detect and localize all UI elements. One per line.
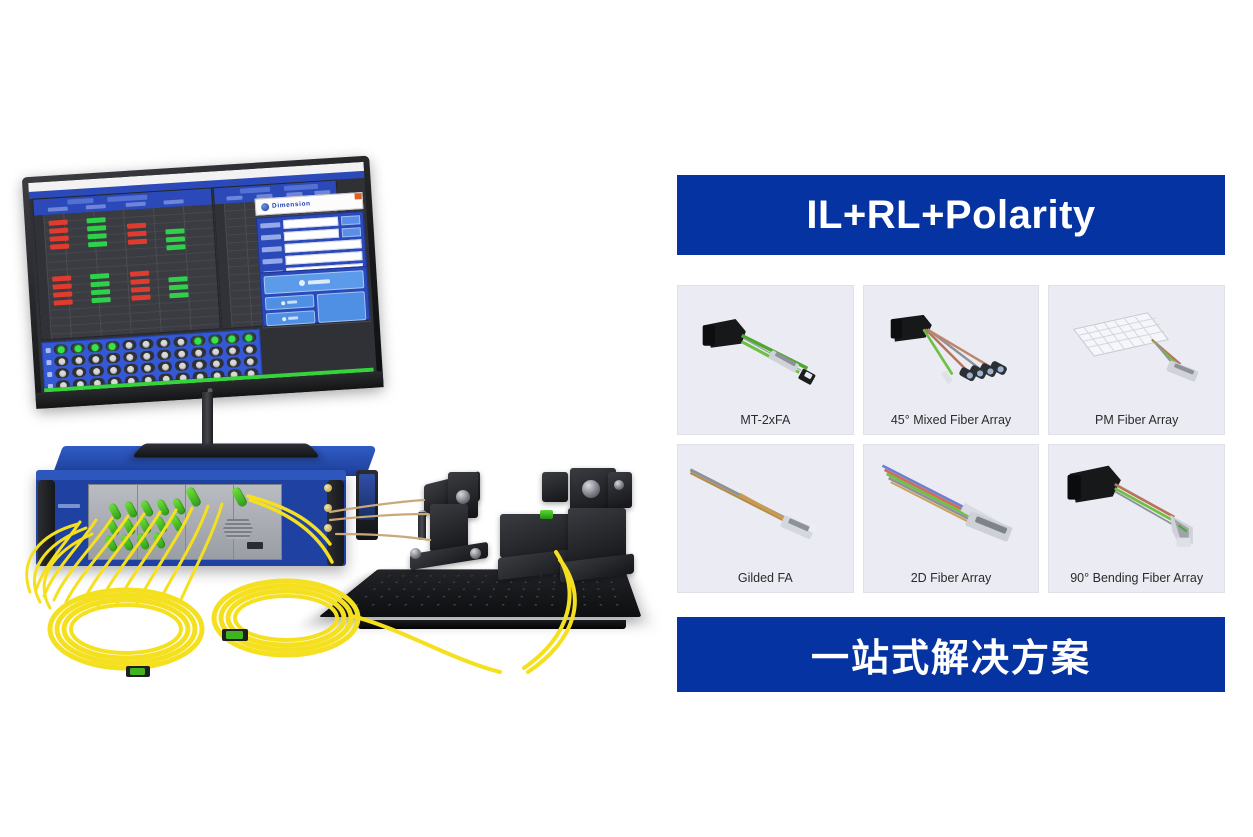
led-indicator-off	[161, 363, 168, 370]
led-cell[interactable]	[140, 350, 155, 361]
measurement-grid-left[interactable]	[32, 187, 221, 340]
led-indicator-on	[108, 342, 115, 349]
grid-rows	[34, 205, 219, 340]
led-cell[interactable]	[191, 347, 206, 358]
led-cell[interactable]	[242, 332, 257, 343]
led-indicator-off	[75, 356, 82, 363]
led-cell[interactable]	[55, 368, 70, 379]
product-label: Gilded FA	[738, 571, 793, 592]
field-label	[262, 246, 282, 252]
led-cell[interactable]	[158, 361, 173, 372]
led-indicator-off	[177, 338, 184, 345]
product-cell[interactable]: 2D Fiber Array	[863, 444, 1040, 594]
led-indicator-off	[110, 366, 117, 373]
led-indicator-off	[212, 348, 219, 355]
led-cell[interactable]	[209, 358, 224, 369]
led-indicator-on	[228, 335, 235, 342]
led-indicator-off	[213, 360, 220, 367]
sma-lead	[324, 504, 332, 512]
led-indicator-off	[143, 352, 150, 359]
optical-alignment-bench	[352, 452, 652, 642]
led-cell[interactable]	[243, 344, 258, 355]
led-cell[interactable]	[123, 363, 138, 374]
led-cell[interactable]	[208, 334, 223, 345]
led-cell[interactable]	[53, 344, 68, 355]
brand-name: Dimension	[272, 200, 311, 209]
pm-array-icon	[1049, 286, 1224, 408]
led-indicator-off	[93, 367, 100, 374]
led-cell[interactable]	[70, 343, 85, 354]
led-indicator-on	[91, 343, 98, 350]
monitor-stand-neck	[202, 392, 213, 444]
led-cell[interactable]	[122, 340, 137, 351]
start-label	[307, 279, 329, 284]
product-label: MT-2xFA	[740, 413, 790, 434]
led-indicator-on	[194, 337, 201, 344]
led-cell[interactable]	[190, 335, 205, 346]
led-indicator-off	[230, 359, 237, 366]
field-label	[262, 258, 282, 264]
led-cell[interactable]	[89, 366, 104, 377]
led-indicator-off	[160, 339, 167, 346]
row-tag	[46, 359, 51, 364]
product-label: 45° Mixed Fiber Array	[891, 413, 1011, 434]
led-cell[interactable]	[54, 356, 69, 367]
led-cell[interactable]	[106, 353, 121, 364]
led-indicator-on	[57, 346, 64, 353]
browse-button[interactable]	[342, 227, 362, 237]
sma-lead	[324, 484, 332, 492]
chassis-module-panel	[88, 484, 282, 560]
led-indicator-off	[246, 346, 253, 353]
led-cell[interactable]	[243, 356, 258, 367]
bottom-banner: 一站式解决方案	[677, 617, 1225, 692]
led-indicator-off	[178, 362, 185, 369]
led-indicator-off	[195, 349, 202, 356]
mpo-connector	[222, 629, 248, 641]
led-indicator-off	[76, 368, 83, 375]
led-cell[interactable]	[71, 355, 86, 366]
led-indicator-off	[92, 355, 99, 362]
settings-button[interactable]	[265, 294, 314, 310]
led-indicator-off	[59, 370, 66, 377]
led-cell[interactable]	[106, 365, 121, 376]
chassis-port	[247, 542, 263, 549]
product-cell[interactable]: 45° Mixed Fiber Array	[863, 285, 1040, 435]
led-cell[interactable]	[173, 336, 188, 347]
bending-90-icon	[1049, 445, 1224, 567]
product-cell[interactable]: MT-2xFA	[677, 285, 854, 435]
fiber-connector-green	[540, 510, 553, 519]
led-cell[interactable]	[72, 367, 87, 378]
cooling-vent	[223, 519, 253, 539]
product-cell[interactable]: 90° Bending Fiber Array	[1048, 444, 1225, 594]
lock-knob[interactable]	[410, 548, 421, 559]
marketing-panel: IL+RL+Polarity MT-2xFA	[677, 0, 1225, 837]
product-label: 90° Bending Fiber Array	[1070, 571, 1203, 592]
mixed-45-icon	[864, 286, 1039, 408]
monitor: Dimension	[22, 156, 384, 409]
led-indicator-off	[178, 350, 185, 357]
led-indicator-on	[74, 344, 81, 351]
button-label	[288, 316, 298, 320]
report-button[interactable]	[316, 291, 366, 323]
chassis-handle-left	[38, 480, 55, 566]
product-label: PM Fiber Array	[1095, 413, 1178, 434]
led-cell[interactable]	[105, 341, 120, 352]
led-cell[interactable]	[175, 360, 190, 371]
product-cell[interactable]: Gilded FA	[677, 444, 854, 594]
product-label: 2D Fiber Array	[911, 571, 992, 592]
monitor-screen: Dimension	[28, 162, 377, 393]
text-input[interactable]	[283, 217, 338, 229]
led-indicator-off	[144, 364, 151, 371]
start-test-button[interactable]	[263, 270, 364, 294]
top-banner: IL+RL+Polarity	[677, 175, 1225, 255]
chassis-badge	[58, 504, 80, 508]
led-cell[interactable]	[174, 348, 189, 359]
led-cell[interactable]	[208, 346, 223, 357]
led-indicator-off	[127, 365, 134, 372]
apply-button[interactable]	[341, 215, 361, 225]
led-cell[interactable]	[88, 342, 103, 353]
side-mount	[608, 472, 632, 508]
row-tag	[47, 371, 52, 376]
brand-mark-icon	[261, 202, 269, 210]
field-label	[261, 234, 281, 240]
field-label	[260, 222, 280, 228]
fiber-cable-group	[0, 0, 672, 837]
product-cell[interactable]: PM Fiber Array	[1048, 285, 1225, 435]
sma-lead	[324, 524, 332, 532]
led-cell[interactable]	[156, 337, 171, 348]
monitor-stand-base	[131, 444, 320, 458]
lens-barrel	[582, 480, 600, 498]
chassis-front	[36, 470, 346, 566]
led-cell[interactable]	[225, 345, 240, 356]
mpo-connector	[126, 666, 150, 677]
lock-knob[interactable]	[470, 548, 481, 559]
led-cell[interactable]	[226, 357, 241, 368]
led-indicator-off	[143, 340, 150, 347]
text-input[interactable]	[284, 229, 339, 241]
software-body: Dimension	[29, 178, 377, 393]
led-cell[interactable]	[139, 338, 154, 349]
fa-2d-icon	[864, 445, 1039, 567]
led-indicator-on	[246, 334, 253, 341]
led-cell[interactable]	[123, 352, 138, 363]
led-cell[interactable]	[88, 354, 103, 365]
action-button-group	[259, 266, 370, 327]
mt-2xfa-icon	[678, 286, 853, 408]
led-cell[interactable]	[157, 349, 172, 360]
gear-icon	[281, 301, 285, 305]
top-banner-text: IL+RL+Polarity	[806, 193, 1095, 238]
adjust-knob[interactable]	[456, 490, 470, 504]
equipment-photo: Dimension	[0, 0, 672, 837]
instrument-chassis	[36, 446, 366, 574]
target-icon	[282, 317, 286, 321]
gilded-fa-icon	[678, 445, 853, 567]
micrometer-post	[418, 512, 426, 540]
led-indicator-off	[126, 353, 133, 360]
led-cell[interactable]	[141, 362, 156, 373]
bottom-banner-text: 一站式解决方案	[811, 627, 1091, 682]
side-knob[interactable]	[614, 480, 624, 490]
close-icon[interactable]	[354, 193, 361, 199]
play-icon	[298, 280, 304, 286]
row-tag	[46, 347, 51, 352]
led-indicator-on	[211, 336, 218, 343]
led-indicator-off	[161, 351, 168, 358]
camera-mount	[542, 472, 568, 502]
control-sidebar: Dimension	[254, 178, 371, 327]
chassis-handle-right	[327, 480, 344, 566]
led-indicator-off	[109, 354, 116, 361]
breadboard-edge	[358, 620, 626, 629]
led-indicator-off	[229, 347, 236, 354]
button-label	[287, 300, 297, 304]
led-cell[interactable]	[192, 359, 207, 370]
led-indicator-off	[196, 361, 203, 368]
led-indicator-off	[58, 358, 65, 365]
led-indicator-off	[247, 358, 254, 365]
led-indicator-off	[126, 341, 133, 348]
led-cell[interactable]	[225, 333, 240, 344]
product-grid: MT-2xFA	[677, 285, 1225, 593]
